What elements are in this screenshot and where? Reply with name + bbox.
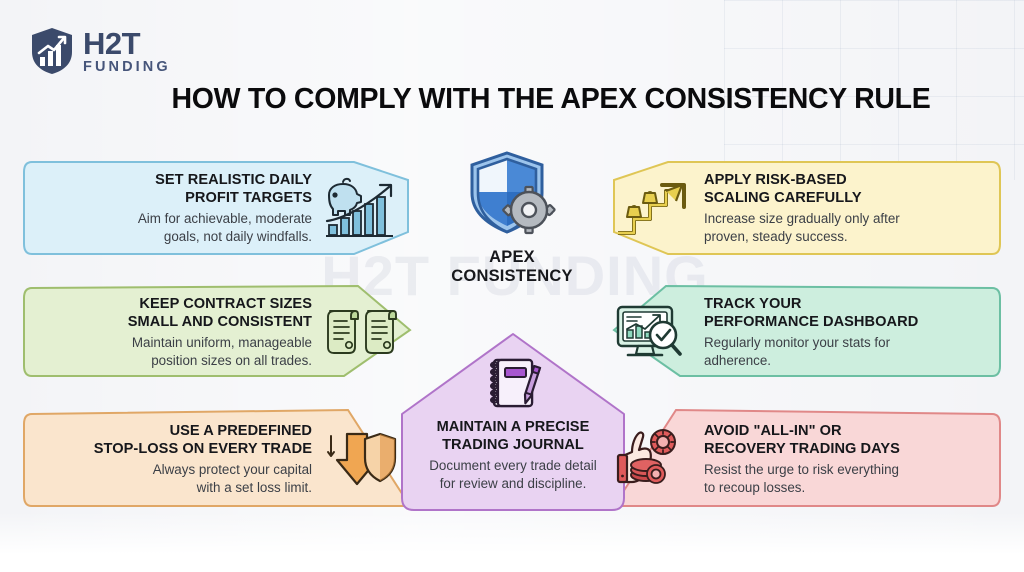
down-arrow-shield-icon <box>325 428 399 490</box>
card-body-line1: Maintain uniform, manageable <box>40 334 312 351</box>
card-title-line2: PROFIT TARGETS <box>40 189 312 207</box>
card-title-line2: TRADING JOURNAL <box>437 436 590 454</box>
card-body-line2: position sizes on all trades. <box>40 352 312 369</box>
hub-apex-consistency: APEX CONSISTENCY <box>441 148 583 287</box>
card-title-line2: SMALL AND CONSISTENT <box>40 313 312 331</box>
hub-label: APEX CONSISTENCY <box>441 248 583 287</box>
card-body-line2: adherence. <box>704 352 988 369</box>
card-body-line1: Increase size gradually only after <box>704 210 988 227</box>
contract-scrolls-icon <box>325 303 399 361</box>
brand-name: H2T <box>83 28 171 59</box>
card-title-line1: USE A PREDEFINED <box>40 422 312 440</box>
page-title: HOW TO COMPLY WITH THE APEX CONSISTENCY … <box>0 83 1024 116</box>
card-body-line2: with a set loss limit. <box>40 479 312 496</box>
brand-logo[interactable]: H2T FUNDING <box>30 27 171 75</box>
card-apply-risk-based-scaling-carefully[interactable]: APPLY RISK-BASED SCALING CAREFULLY Incre… <box>596 156 1006 260</box>
card-avoid-all-in-or-recovery-trading-days[interactable]: AVOID "ALL-IN" OR RECOVERY TRADING DAYS … <box>596 404 1006 514</box>
notebook-pencil-icon <box>484 354 542 412</box>
weights-stairs-arrow-icon <box>614 177 690 239</box>
card-body-line1: Aim for achievable, moderate <box>40 210 312 227</box>
card-icon-slot <box>610 177 694 239</box>
card-title-line1: MAINTAIN A PRECISE <box>437 418 590 436</box>
card-title-line1: AVOID "ALL-IN" OR <box>704 422 988 440</box>
card-title-line1: TRACK YOUR <box>704 295 988 313</box>
card-keep-contract-sizes-small-and-consistent[interactable]: KEEP CONTRACT SIZES SMALL AND CONSISTENT… <box>18 280 414 384</box>
card-title-line1: SET REALISTIC DAILY <box>40 171 312 189</box>
card-body-line2: goals, not daily windfalls. <box>40 228 312 245</box>
card-icon-slot <box>320 175 404 241</box>
card-title-line2: RECOVERY TRADING DAYS <box>704 440 988 458</box>
shield-gear-icon <box>467 148 557 244</box>
card-use-a-predefined-stop-loss-on-every-trade[interactable]: USE A PREDEFINED STOP-LOSS ON EVERY TRAD… <box>18 404 414 514</box>
card-title-line1: APPLY RISK-BASED <box>704 171 988 189</box>
infographic-canvas: H2T FUNDING H2T FUNDING HOW TO COMPLY WI… <box>0 0 1024 572</box>
card-icon-slot <box>482 354 544 412</box>
shield-chart-icon <box>30 27 74 75</box>
piggy-bank-growth-chart-icon <box>323 175 401 241</box>
card-body-line1: Regularly monitor your stats for <box>704 334 988 351</box>
card-track-your-performance-dashboard[interactable]: TRACK YOUR PERFORMANCE DASHBOARD Regular… <box>596 280 1006 384</box>
card-maintain-a-precise-trading-journal[interactable]: MAINTAIN A PRECISE TRADING JOURNAL Docum… <box>396 330 630 514</box>
card-body-line2: to recoup losses. <box>704 479 988 496</box>
card-title-line1: KEEP CONTRACT SIZES <box>40 295 312 313</box>
card-body-line1: Always protect your capital <box>40 461 312 478</box>
hub-label-line1: APEX <box>441 248 583 267</box>
card-title-line2: STOP-LOSS ON EVERY TRADE <box>40 440 312 458</box>
card-body-line1: Document every trade detail <box>429 457 596 474</box>
card-title-line2: PERFORMANCE DASHBOARD <box>704 313 988 331</box>
card-title-line2: SCALING CAREFULLY <box>704 189 988 207</box>
card-icon-slot <box>320 428 404 490</box>
card-set-realistic-daily-profit-targets[interactable]: SET REALISTIC DAILY PROFIT TARGETS Aim f… <box>18 156 414 260</box>
card-body-line1: Resist the urge to risk everything <box>704 461 988 478</box>
card-body-line2: for review and discipline. <box>429 475 596 492</box>
card-body-line2: proven, steady success. <box>704 228 988 245</box>
background-fade <box>0 512 1024 572</box>
brand-subtitle: FUNDING <box>83 60 171 75</box>
card-icon-slot <box>320 303 404 361</box>
hub-label-line2: CONSISTENCY <box>441 267 583 286</box>
